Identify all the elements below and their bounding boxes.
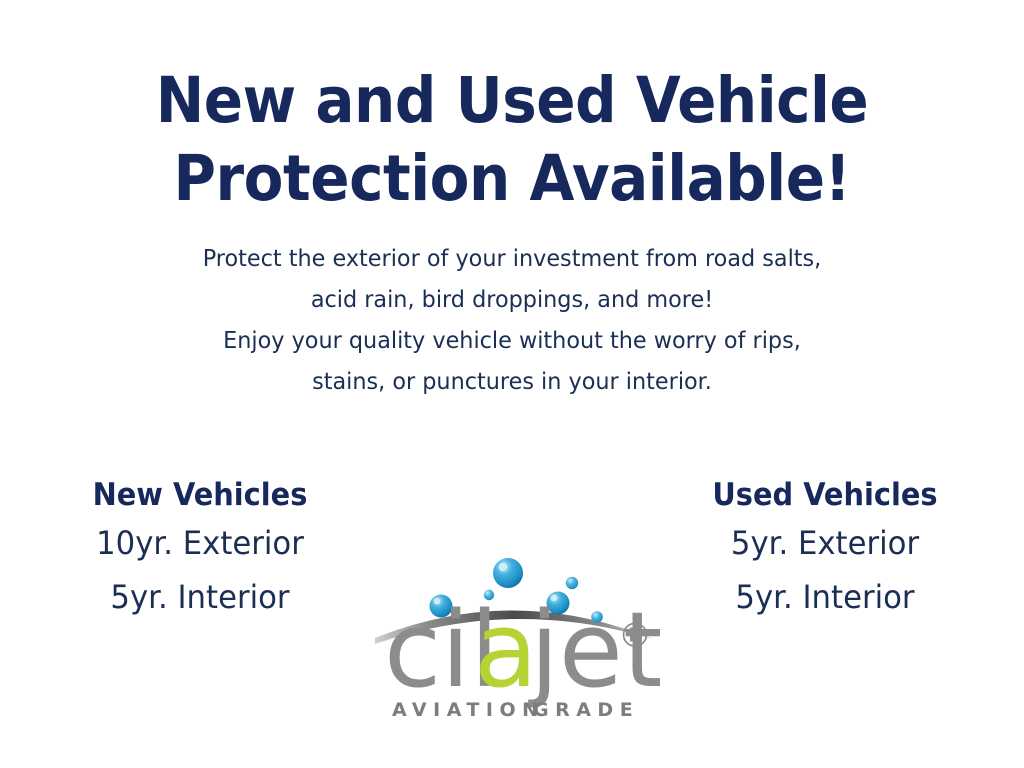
subtitle-line-2: acid rain, bird droppings, and more!	[26, 279, 999, 320]
logo-tagline-aviation: AVIATION	[392, 699, 545, 721]
new-vehicles-item-exterior: 10yr. Exterior	[42, 516, 359, 570]
cilajet-logo: cil a jet ® AVIATION GRADE	[370, 552, 660, 728]
logo-tagline: AVIATION GRADE	[392, 699, 639, 721]
droplet-large-center	[493, 558, 523, 588]
droplet-small-upper-right	[566, 577, 578, 589]
subtitle-line-3: Enjoy your quality vehicle without the w…	[26, 320, 999, 361]
new-vehicles-column: New Vehicles 10yr. Exterior 5yr. Interio…	[35, 474, 365, 624]
used-vehicles-column: Used Vehicles 5yr. Exterior 5yr. Interio…	[660, 474, 990, 624]
logo-wordmark-a-accent: a	[474, 589, 538, 711]
title-line-1: New and Used Vehicle	[41, 62, 983, 140]
used-vehicles-item-exterior: 5yr. Exterior	[667, 516, 984, 570]
registered-trademark-icon: ®	[618, 616, 652, 656]
page-title: New and Used Vehicle Protection Availabl…	[0, 62, 1024, 218]
droplet-large-center-highlight	[499, 563, 508, 572]
slide-canvas: New and Used Vehicle Protection Availabl…	[0, 0, 1024, 768]
new-vehicles-heading: New Vehicles	[47, 474, 354, 516]
used-vehicles-item-interior: 5yr. Interior	[667, 570, 984, 624]
title-line-2: Protection Available!	[41, 140, 983, 218]
subtitle-line-4: stains, or punctures in your interior.	[26, 361, 999, 402]
subtitle-line-1: Protect the exterior of your investment …	[26, 238, 999, 279]
used-vehicles-heading: Used Vehicles	[672, 474, 979, 516]
new-vehicles-item-interior: 5yr. Interior	[42, 570, 359, 624]
subtitle-paragraph: Protect the exterior of your investment …	[0, 238, 1024, 402]
cilajet-logo-icon: cil a jet ® AVIATION GRADE	[370, 552, 660, 728]
logo-tagline-grade: GRADE	[533, 699, 639, 721]
